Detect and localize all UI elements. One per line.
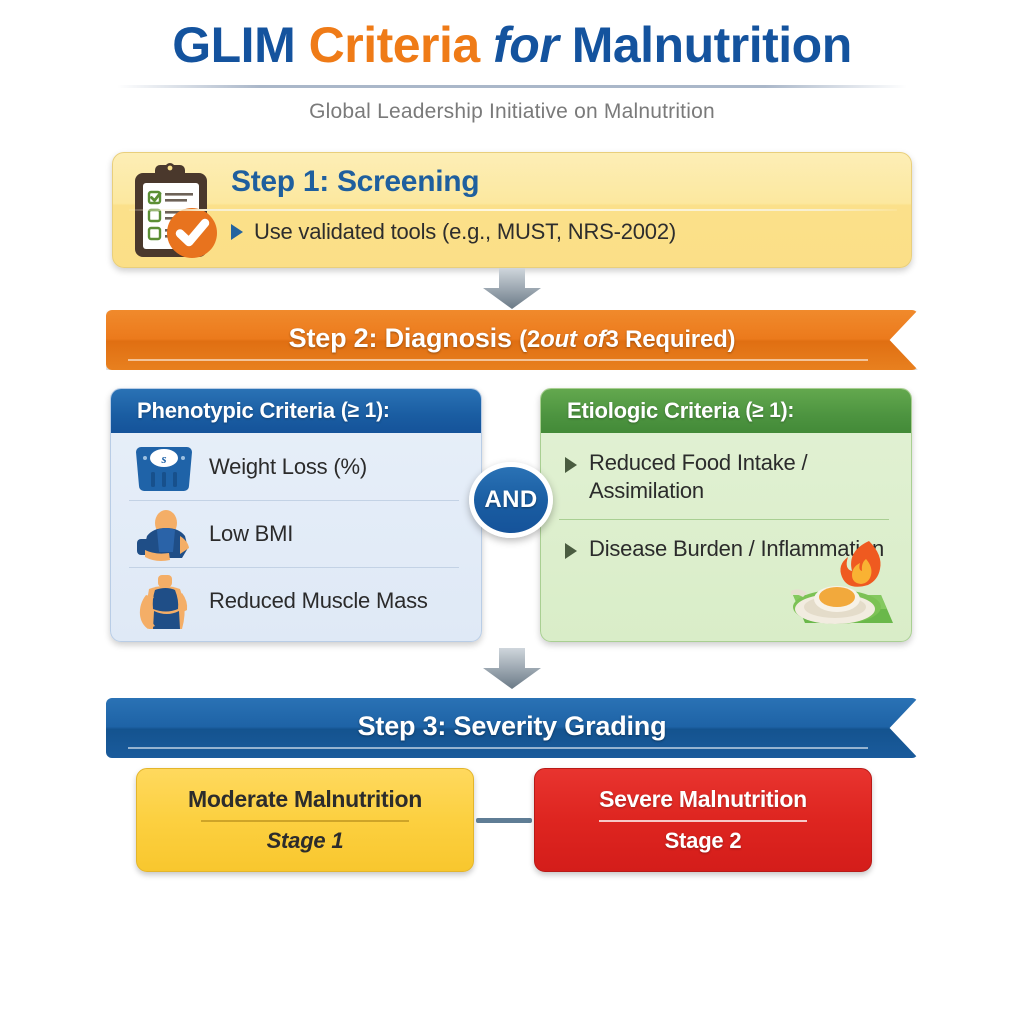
orange-check-circle-icon [167,208,217,258]
infographic-canvas: GLIM Criteria for Malnutrition Global Le… [0,0,1024,1024]
etiologic-header-text: Etiologic Criteria [567,398,739,424]
step2-banner-label: Step 2: Diagnosis (2out of3 Required) [289,323,736,354]
phenotypic-row-muscle-mass[interactable]: Reduced Muscle Mass [111,567,481,634]
page-subtitle: Global Leadership Initiative on Malnutri… [0,100,1024,124]
outcome-stage: Stage 1 [267,828,344,854]
phenotypic-header-text: Phenotypic Criteria [137,398,335,424]
arrow-step2-to-step3-icon [481,648,543,690]
phenotypic-criteria-panel[interactable]: Phenotypic Criteria (≥ 1): s Weight Loss… [110,388,482,642]
outcome-stage: Stage 2 [665,828,742,854]
header: GLIM Criteria for Malnutrition Global Le… [0,18,1024,124]
bullet-triangle-icon [565,543,577,559]
phenotypic-header-qualifier: (≥ 1): [341,399,390,423]
etiologic-header-qualifier: (≥ 1): [745,399,794,423]
phenotypic-panel-header: Phenotypic Criteria (≥ 1): [111,389,481,433]
etiologic-criteria-panel[interactable]: Etiologic Criteria (≥ 1): Reduced Food I… [540,388,912,642]
step2-diagnosis-banner[interactable]: Step 2: Diagnosis (2out of3 Required) [106,310,918,370]
arrow-step1-to-step2-icon [481,268,543,310]
title-word-criteria: Criteria [309,17,480,73]
step1-screening-card[interactable]: Step 1: Screening Use validated tools (e… [112,152,912,268]
outcome-title: Moderate Malnutrition [188,786,422,813]
step2-label-paren-rest: 3 Required) [606,326,736,353]
phenotypic-row-label: Weight Loss (%) [209,454,367,480]
step1-divider [129,209,897,211]
person-body-icon [133,506,195,562]
title-word-for: for [493,17,558,73]
muscle-torso-icon [133,573,195,629]
step1-bullet-text: Use validated tools (e.g., MUST, NRS-200… [254,219,676,245]
phenotypic-row-weight-loss[interactable]: s Weight Loss (%) [111,433,481,500]
step1-bullet-row: Use validated tools (e.g., MUST, NRS-200… [231,219,676,245]
etiologic-panel-header: Etiologic Criteria (≥ 1): [541,389,911,433]
outcome-title: Severe Malnutrition [599,786,807,813]
title-word-malnutrition: Malnutrition [572,17,852,73]
title-word-glim: GLIM [172,17,295,73]
outcome-severe-malnutrition[interactable]: Severe Malnutrition Stage 2 [534,768,872,872]
weight-scale-icon: s [133,439,195,495]
title-divider [117,85,907,88]
outcome-divider [201,820,409,822]
outcome-divider [599,820,807,822]
step2-label-main: Step 2: Diagnosis [289,323,512,353]
step2-label-italic: out of [540,326,605,353]
bullet-triangle-icon [231,224,243,240]
step2-label-paren-open: (2 [519,326,540,353]
step3-severity-banner[interactable]: Step 3: Severity Grading [106,698,918,758]
phenotypic-row-label: Reduced Muscle Mass [209,588,428,614]
etiologic-item-label: Reduced Food Intake / Assimilation [589,449,897,505]
outcome-connector-line [476,818,532,823]
bullet-triangle-icon [565,457,577,473]
outcome-moderate-malnutrition[interactable]: Moderate Malnutrition Stage 1 [136,768,474,872]
step1-title: Step 1: Screening [231,165,479,199]
step2-banner-underline [128,359,868,361]
step3-banner-underline [128,747,868,749]
step3-banner-label: Step 3: Severity Grading [358,711,667,742]
etiologic-item-food-intake[interactable]: Reduced Food Intake / Assimilation [541,433,911,519]
phenotypic-row-label: Low BMI [209,521,293,547]
and-connector-badge: AND [469,462,553,538]
clipboard-checklist-icon [129,163,225,263]
food-plate-flame-icon [773,533,903,637]
svg-text:s: s [160,451,166,466]
page-title: GLIM Criteria for Malnutrition [0,18,1024,73]
phenotypic-row-low-bmi[interactable]: Low BMI [111,500,481,567]
